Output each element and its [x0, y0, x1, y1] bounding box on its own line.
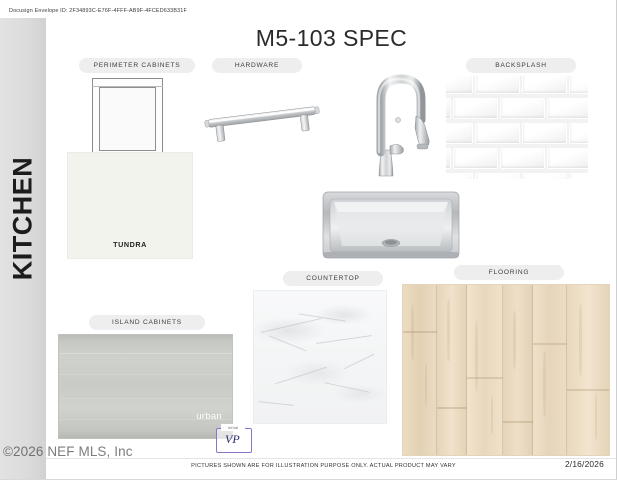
mls-copyright-watermark: ©2026 NEF MLS, Inc: [3, 444, 133, 459]
initial-stamp-caption: Initial: [221, 424, 245, 431]
document-date: 2/16/2026: [565, 459, 604, 469]
flooring-swatch: [402, 284, 610, 456]
label-perimeter-cabinets: PERIMETER CABINETS: [79, 58, 195, 73]
spec-sheet-page: Docusign Envelope ID: 2F34893C-E76F-4FFF…: [0, 0, 617, 480]
kitchen-faucet-image: [346, 58, 436, 193]
label-hardware: HARDWARE: [212, 58, 302, 73]
perimeter-cabinet-color-swatch: TUNDRA: [67, 152, 193, 259]
room-rail: KITCHEN: [0, 18, 46, 480]
label-flooring: FLOORING: [454, 265, 564, 280]
page-title: M5-103 SPEC: [46, 25, 617, 52]
docusign-envelope-id: Docusign Envelope ID: 2F34893C-E76F-4FFF…: [9, 8, 187, 14]
bar-pull-icon: [201, 86, 323, 148]
backsplash-tile-swatch: [446, 76, 588, 179]
kitchen-sink-image: [322, 190, 460, 262]
spec-board: M5-103 SPEC PERIMETER CABINETS TUNDRA HA…: [46, 18, 617, 480]
island-cabinet-color-name: urban: [196, 411, 222, 422]
island-cabinet-color-swatch: urban: [58, 334, 233, 439]
footer-divider: [46, 458, 617, 459]
label-countertop: COUNTERTOP: [283, 271, 383, 286]
disclaimer-text: PICTURES SHOWN ARE FOR ILLUSTRATION PURP…: [46, 463, 601, 469]
room-label-kitchen: KITCHEN: [8, 134, 39, 304]
initial-stamp-mark: VP: [225, 432, 240, 447]
perimeter-cabinet-color-name: TUNDRA: [68, 240, 192, 249]
countertop-swatch: [253, 290, 387, 424]
docusign-envelope-strip: Docusign Envelope ID: 2F34893C-E76F-4FFF…: [0, 0, 617, 19]
docusign-initial-stamp[interactable]: Initial VP: [216, 424, 252, 452]
cabinet-door-illustration: [92, 78, 163, 158]
label-backsplash: BACKSPLASH: [466, 58, 576, 73]
label-island-cabinets: ISLAND CABINETS: [89, 315, 205, 330]
